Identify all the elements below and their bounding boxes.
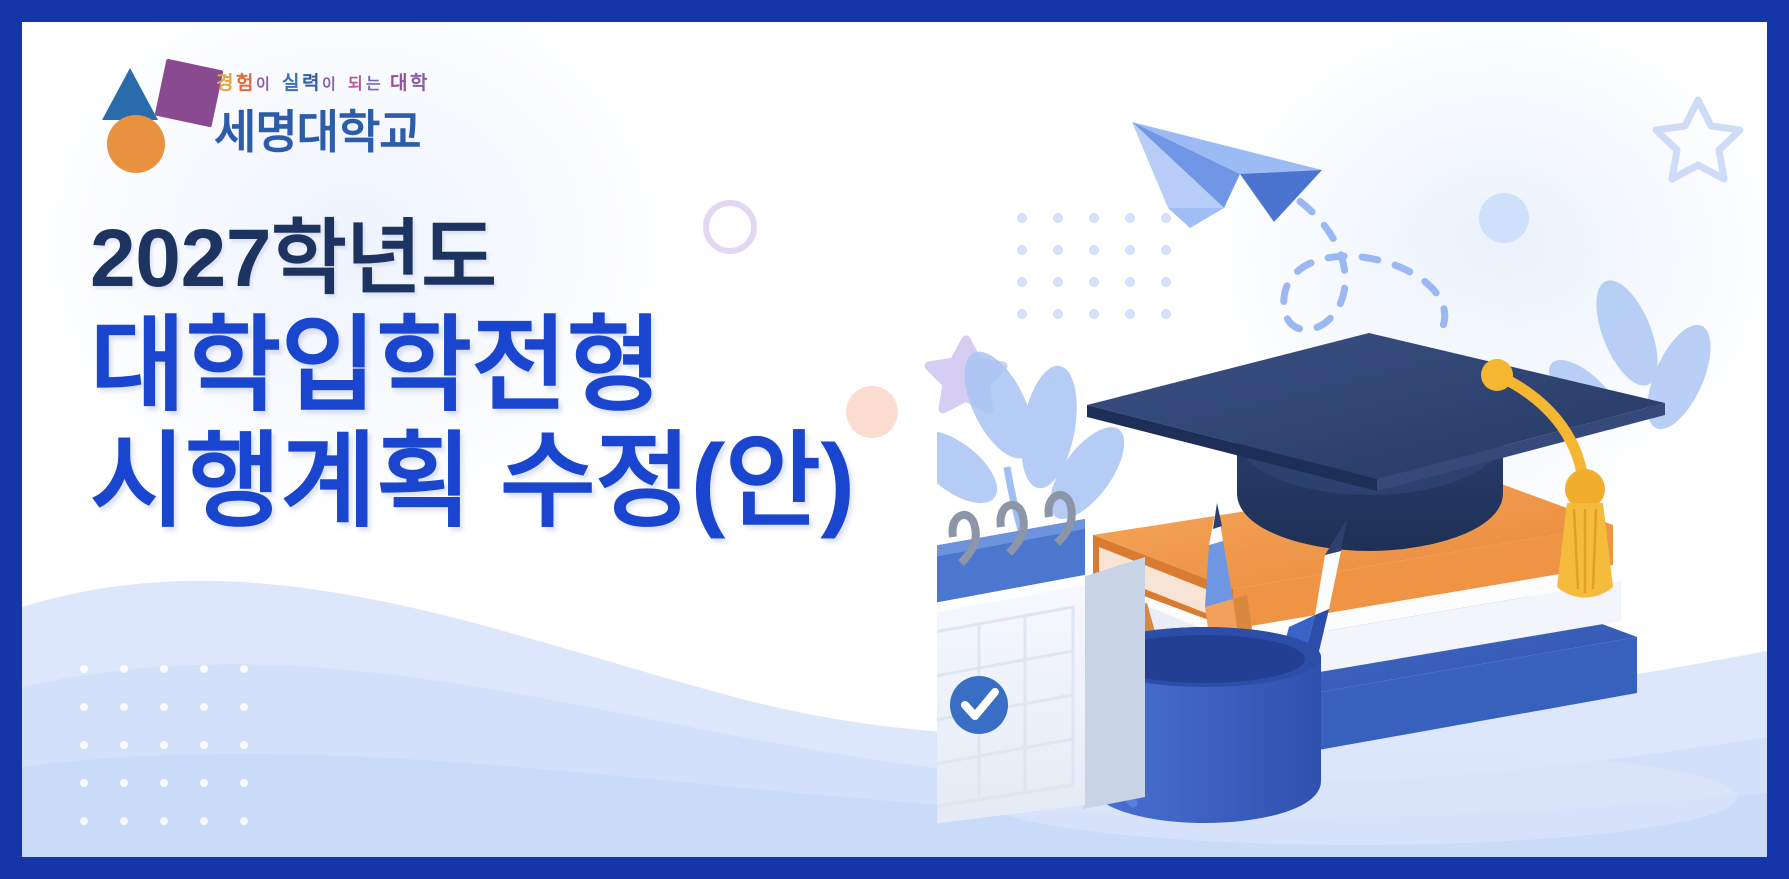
logo-triangle-icon	[102, 68, 158, 120]
svg-text:학: 학	[410, 72, 428, 94]
svg-text:력: 력	[302, 72, 319, 94]
svg-text:이: 이	[322, 76, 336, 93]
headline-main-1: 대학입학전형	[90, 314, 855, 418]
banner-inner: 경 험 이 실 력 이 되 는 대 학 세명대학교	[22, 22, 1767, 857]
logo-university-name: 세명대학교	[214, 106, 421, 158]
svg-text:대: 대	[390, 72, 407, 94]
svg-text:경: 경	[216, 72, 233, 94]
svg-text:실: 실	[282, 72, 299, 94]
university-logo: 경 험 이 실 력 이 되 는 대 학 세명대학교	[56, 42, 496, 192]
graduation-illustration	[937, 137, 1767, 857]
svg-text:험: 험	[236, 72, 253, 94]
logo-tagline: 경 험 이 실 력 이 되 는 대 학	[216, 72, 428, 94]
svg-text:되: 되	[348, 75, 363, 93]
svg-text:이: 이	[256, 76, 270, 93]
calendar-check-icon	[950, 676, 1008, 734]
logo-circle-icon	[107, 115, 165, 173]
headline-group: 2027학년도 대학입학전형 시행계획 수정(안)	[90, 218, 855, 534]
svg-text:는: 는	[366, 75, 381, 93]
headline-main-2: 시행계획 수정(안)	[90, 430, 855, 534]
banner-root: 경 험 이 실 력 이 되 는 대 학 세명대학교	[0, 0, 1789, 879]
headline-year: 2027학년도	[90, 218, 855, 300]
